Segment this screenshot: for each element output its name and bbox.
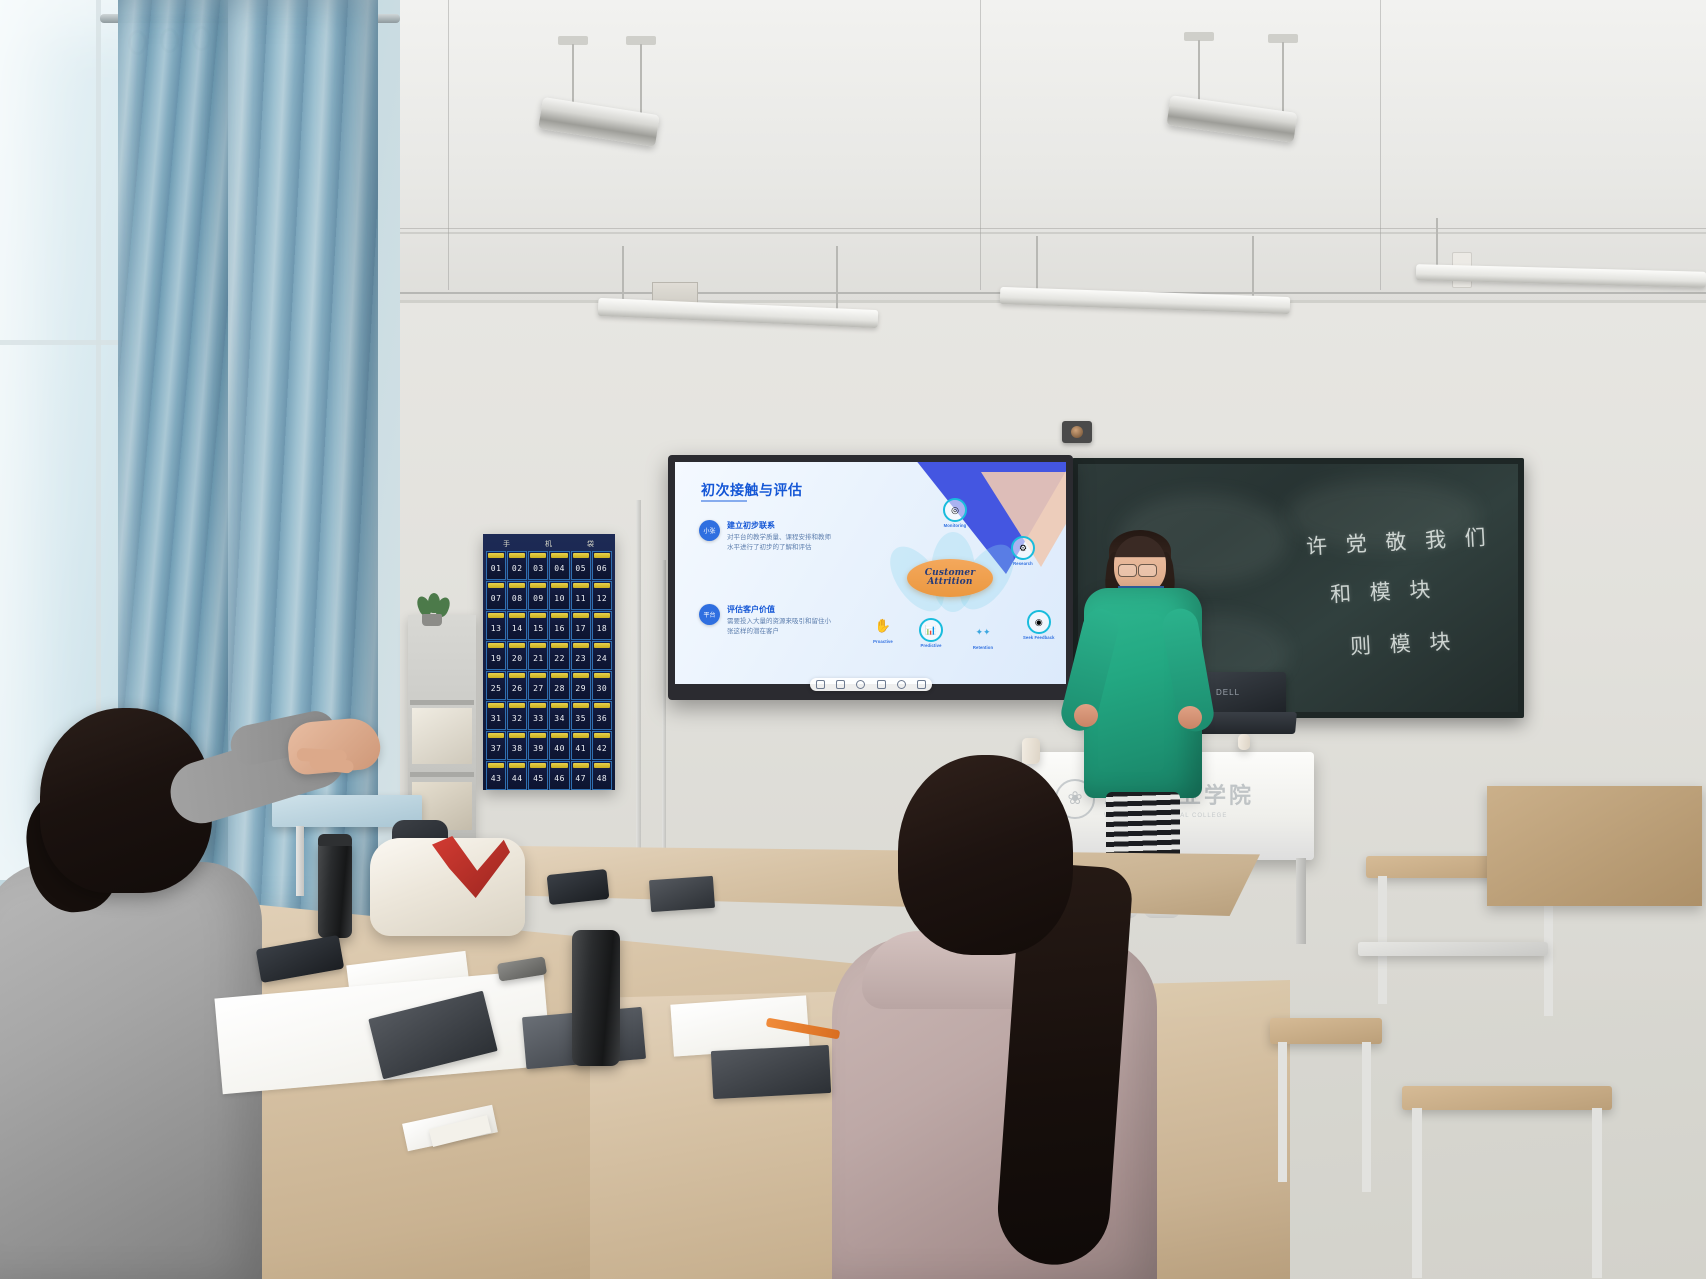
pocket-number: 24 (597, 654, 608, 663)
gear-icon: ⚙ (1011, 536, 1035, 560)
pocket-slot[interactable]: 12 (592, 581, 612, 610)
pocket-slot[interactable]: 18 (592, 611, 612, 640)
slide-title-underline (701, 500, 747, 502)
bullet-chip: 平台 (699, 604, 720, 625)
pocket-slot[interactable]: 21 (528, 641, 548, 670)
desk-shelf (1358, 942, 1548, 956)
pocket-chart-header: 手 机 袋 (486, 537, 612, 551)
node-label: Seek Feedback (1023, 635, 1055, 640)
star-icon: ✦✦ (971, 620, 995, 644)
student-left-hand (286, 716, 382, 776)
pocket-number: 31 (491, 714, 502, 723)
thermos-cap (318, 834, 352, 846)
header-char: 袋 (587, 539, 595, 549)
pocket-slot[interactable]: 32 (507, 701, 527, 730)
phone-pocket-chart: 手 机 袋 0102030405060708091011121314151617… (483, 534, 615, 790)
teacher-hand-right (1178, 706, 1202, 729)
pocket-number: 13 (491, 624, 502, 633)
laptop-brand: DELL (1216, 688, 1240, 697)
pocket-slot[interactable]: 33 (528, 701, 548, 730)
pocket-slot[interactable]: 04 (549, 551, 569, 580)
pocket-number: 11 (575, 594, 586, 603)
bullet-heading: 建立初步联系 (727, 520, 835, 531)
desk-leg (1378, 876, 1387, 1004)
pocket-number: 07 (491, 594, 502, 603)
pocket-number: 48 (597, 774, 608, 783)
eraser-icon[interactable] (836, 680, 845, 689)
pocket-slot[interactable]: 30 (592, 671, 612, 700)
pocket-slot[interactable]: 28 (549, 671, 569, 700)
hand-icon: ✋ (871, 614, 895, 638)
pocket-number: 28 (554, 684, 565, 693)
pocket-slot[interactable]: 43 (486, 761, 506, 790)
presentation-slide[interactable]: 初次接触与评估 小张 建立初步联系 对平台的教学质量、课程安排和教师水平进行了初… (675, 462, 1066, 684)
pocket-slot[interactable]: 46 (549, 761, 569, 790)
pocket-slot[interactable]: 29 (571, 671, 591, 700)
graphic-node-retention: ✦✦ Retention (971, 620, 995, 650)
pocket-grid: 0102030405060708091011121314151617181920… (486, 551, 612, 790)
thermos-bottle[interactable] (318, 840, 352, 938)
slide-bullet-1: 小张 建立初步联系 对平台的教学质量、课程安排和教师水平进行了初步的了解和评估 (699, 520, 835, 553)
student-right-hair (898, 755, 1073, 955)
palette-icon[interactable] (897, 680, 906, 689)
stool-leg (1362, 1042, 1371, 1192)
pocket-slot[interactable]: 15 (528, 611, 548, 640)
pocket-slot[interactable]: 41 (571, 731, 591, 760)
pocket-number: 29 (575, 684, 586, 693)
cardboard-box (1487, 786, 1702, 906)
graphic-node-seek-feedback: ◉ Seek Feedback (1023, 610, 1055, 640)
pocket-slot[interactable]: 44 (507, 761, 527, 790)
pocket-number: 25 (491, 684, 502, 693)
pocket-slot[interactable]: 27 (528, 671, 548, 700)
pocket-number: 05 (575, 564, 586, 573)
stool-seat[interactable] (1270, 1018, 1382, 1044)
bullet-heading: 评估客户价值 (727, 604, 835, 615)
header-char: 手 (503, 539, 511, 549)
ceiling-seam (980, 0, 981, 290)
pocket-slot[interactable]: 48 (592, 761, 612, 790)
lectern-leg (1296, 858, 1306, 944)
potted-plant (414, 596, 448, 622)
pocket-number: 12 (597, 594, 608, 603)
pocket-slot[interactable]: 05 (571, 551, 591, 580)
pocket-slot[interactable]: 02 (507, 551, 527, 580)
slide-title: 初次接触与评估 (701, 480, 803, 500)
pocket-slot[interactable]: 03 (528, 551, 548, 580)
pocket-number: 19 (491, 654, 502, 663)
pocket-number: 20 (512, 654, 523, 663)
pocket-number: 09 (533, 594, 544, 603)
pocket-number: 36 (597, 714, 608, 723)
pocket-slot[interactable]: 16 (549, 611, 569, 640)
pocket-number: 34 (554, 714, 565, 723)
pocket-number: 16 (554, 624, 565, 633)
phone-on-table[interactable] (711, 1045, 831, 1099)
wall-pipe (662, 560, 666, 860)
node-label: Predictive (920, 643, 941, 648)
ceiling-seam (448, 0, 449, 290)
teacher-hand-left (1074, 704, 1098, 727)
pocket-number: 46 (554, 774, 565, 783)
slide-bullet-2: 平台 评估客户价值 需要投入大量的资源来吸引和留住小张这样的潜在客户 (699, 604, 835, 637)
pocket-number: 39 (533, 744, 544, 753)
pocket-slot[interactable]: 47 (571, 761, 591, 790)
marker-on-podium[interactable] (1238, 734, 1250, 750)
pocket-slot[interactable]: 09 (528, 581, 548, 610)
pocket-slot[interactable]: 22 (549, 641, 569, 670)
pocket-slot[interactable]: 23 (571, 641, 591, 670)
graphic-node-monitoring: ◎ Monitoring (943, 498, 967, 528)
shape-icon[interactable] (856, 680, 865, 689)
pocket-number: 10 (554, 594, 565, 603)
glasses-lens (1118, 564, 1137, 577)
chalk-line-3: 则 模 块 (1349, 625, 1457, 661)
pocket-slot[interactable]: 35 (571, 701, 591, 730)
pocket-slot[interactable]: 01 (486, 551, 506, 580)
wall-pipe (636, 500, 641, 860)
pocket-slot[interactable]: 36 (592, 701, 612, 730)
pocket-slot[interactable]: 34 (549, 701, 569, 730)
bullet-chip: 小张 (699, 520, 720, 541)
pocket-number: 27 (533, 684, 544, 693)
camera-icon (1062, 421, 1092, 443)
pocket-slot[interactable]: 19 (486, 641, 506, 670)
pocket-slot[interactable]: 24 (592, 641, 612, 670)
pocket-slot[interactable]: 25 (486, 671, 506, 700)
pocket-slot[interactable]: 39 (528, 731, 548, 760)
graphic-node-research: ⚙ Research (1011, 536, 1035, 566)
pocket-slot[interactable]: 20 (507, 641, 527, 670)
glasses-lens (1138, 564, 1157, 577)
pocket-slot[interactable]: 13 (486, 611, 506, 640)
node-label: Proactive (873, 639, 893, 644)
pocket-number: 08 (512, 594, 523, 603)
smartboard-toolbar[interactable] (810, 678, 932, 691)
pocket-number: 42 (597, 744, 608, 753)
pocket-number: 23 (575, 654, 586, 663)
speech-icon: ◉ (1027, 610, 1051, 634)
pocket-slot[interactable]: 10 (549, 581, 569, 610)
pen-icon[interactable] (816, 680, 825, 689)
graphic-node-predictive: 📊 Predictive (919, 618, 943, 648)
pocket-number: 30 (597, 684, 608, 693)
pocket-slot[interactable]: 08 (507, 581, 527, 610)
pocket-slot[interactable]: 07 (486, 581, 506, 610)
target-magnifier-icon: ◎ (943, 498, 967, 522)
thermos-bottle[interactable] (572, 930, 620, 1066)
node-label: Retention (973, 645, 993, 650)
pocket-number: 40 (554, 744, 565, 753)
pocket-number: 41 (575, 744, 586, 753)
pocket-slot[interactable]: 31 (486, 701, 506, 730)
notebook-on-table[interactable] (649, 876, 715, 912)
pocket-number: 06 (597, 564, 608, 573)
pocket-slot[interactable]: 37 (486, 731, 506, 760)
pocket-slot[interactable]: 42 (592, 731, 612, 760)
more-icon[interactable] (917, 680, 926, 689)
stool-leg (1278, 1042, 1287, 1182)
ceiling-seam (1380, 0, 1381, 290)
pocket-slot[interactable]: 17 (571, 611, 591, 640)
stool-leg (1412, 1108, 1422, 1278)
pocket-slot[interactable]: 45 (528, 761, 548, 790)
pocket-number: 14 (512, 624, 523, 633)
student-right-seated (840, 755, 1170, 1279)
pocket-number: 22 (554, 654, 565, 663)
pocket-number: 37 (491, 744, 502, 753)
pocket-number: 21 (533, 654, 544, 663)
pocket-number: 32 (512, 714, 523, 723)
pocket-number: 04 (554, 564, 565, 573)
pocket-number: 18 (597, 624, 608, 633)
node-label: Research (1013, 561, 1033, 566)
pocket-slot[interactable]: 06 (592, 551, 612, 580)
pocket-number: 26 (512, 684, 523, 693)
pocket-number: 47 (575, 774, 586, 783)
bullet-body: 需要投入大量的资源来吸引和留住小张这样的潜在客户 (727, 617, 835, 637)
pocket-slot[interactable]: 38 (507, 731, 527, 760)
pocket-number: 43 (491, 774, 502, 783)
pocket-number: 38 (512, 744, 523, 753)
bar-chart-icon: 📊 (919, 618, 943, 642)
pocket-number: 44 (512, 774, 523, 783)
node-label: Monitoring (944, 523, 967, 528)
pocket-number: 45 (533, 774, 544, 783)
pocket-number: 01 (491, 564, 502, 573)
customer-attrition-label: Customer Attrition (907, 559, 993, 597)
pocket-slot[interactable]: 14 (507, 611, 527, 640)
select-icon[interactable] (877, 680, 886, 689)
pocket-number: 35 (575, 714, 586, 723)
pocket-number: 02 (512, 564, 523, 573)
stool-leg (1592, 1108, 1602, 1278)
pocket-slot[interactable]: 26 (507, 671, 527, 700)
header-char: 机 (545, 539, 553, 549)
bullet-body: 对平台的教学质量、课程安排和教师水平进行了初步的了解和评估 (727, 533, 835, 553)
stool-seat[interactable] (1402, 1086, 1612, 1110)
shelf-papers (412, 708, 472, 764)
chalk-line-2: 和 模 块 (1329, 573, 1437, 609)
classroom-scene: 许 党 敬 我 们 和 模 块 则 模 块 初次接触与评估 小张 建立初步联系 … (0, 0, 1706, 1279)
graphic-node-proactive: ✋ Proactive (871, 614, 895, 644)
pocket-slot[interactable]: 40 (549, 731, 569, 760)
pocket-slot[interactable]: 11 (571, 581, 591, 610)
attrition-line-2: Attrition (927, 578, 972, 587)
pocket-number: 03 (533, 564, 544, 573)
pocket-number: 17 (575, 624, 586, 633)
pocket-number: 15 (533, 624, 544, 633)
phone-on-table[interactable] (547, 869, 610, 905)
pocket-number: 33 (533, 714, 544, 723)
